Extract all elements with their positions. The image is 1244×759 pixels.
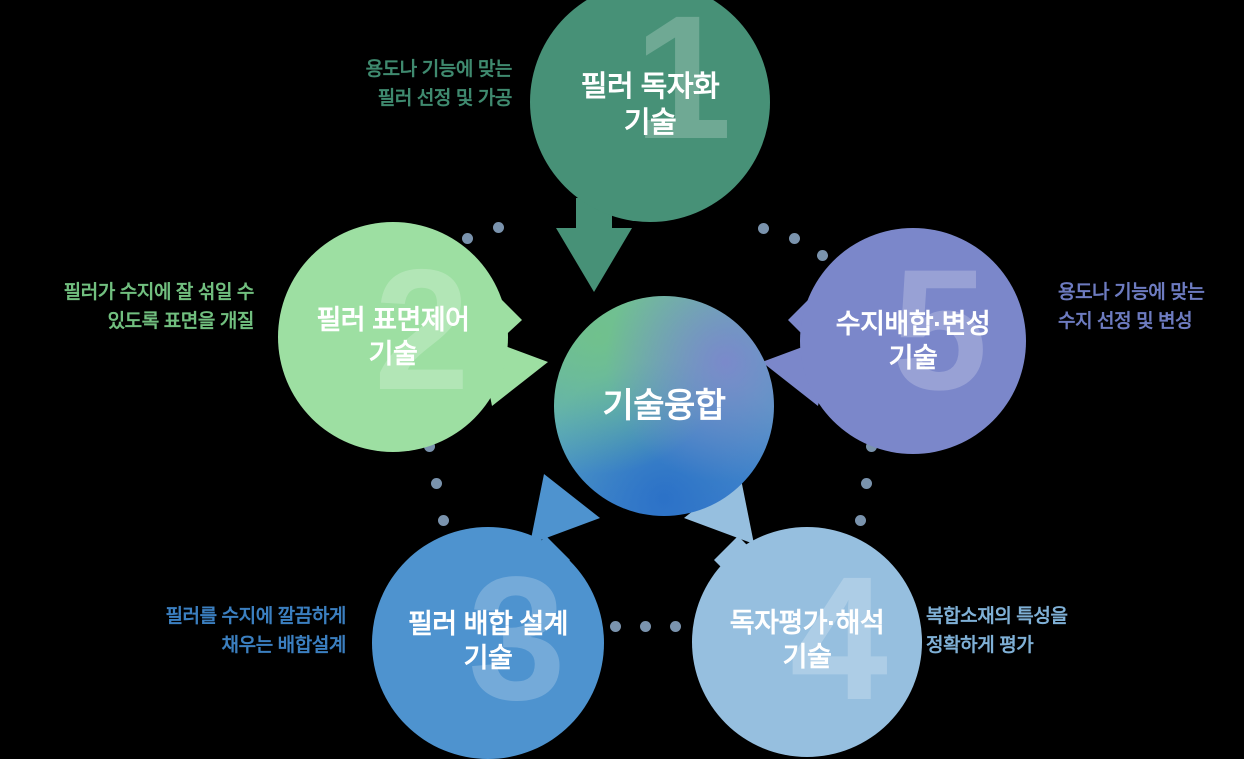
diagram-canvas: 1 필러 독자화 기술 용도나 기능에 맞는 필러 선정 및 가공 2 필러 표…	[0, 0, 1244, 742]
node-filler-surface-control[interactable]: 2 필러 표면제어 기술	[278, 222, 508, 452]
caption-filler-independence: 용도나 기능에 맞는 필러 선정 및 가공	[284, 55, 512, 114]
node-filler-compounding-design[interactable]: 3 필러 배합 설계 기술	[372, 527, 604, 759]
node-filler-independence[interactable]: 1 필러 독자화 기술	[530, 0, 770, 222]
node-title: 독자평가·해석 기술	[730, 607, 885, 675]
connector-dot	[855, 515, 866, 526]
connector-dot	[493, 222, 504, 233]
node-title: 수지배합·변성 기술	[836, 308, 991, 376]
connector-dot	[817, 250, 828, 261]
node-evaluation-analysis[interactable]: 4 독자평가·해석 기술	[692, 527, 922, 757]
hub-label: 기술융합	[602, 385, 725, 428]
connector-dot	[431, 478, 442, 489]
caption-filler-compounding-design: 필러를 수지에 깔끔하게 채우는 배합설계	[98, 602, 346, 661]
node-resin-compounding-modification[interactable]: 5 수지배합·변성 기술	[800, 228, 1026, 454]
node-title: 필러 배합 설계 기술	[408, 608, 568, 676]
connector-dot	[758, 223, 769, 234]
caption-evaluation-analysis: 복합소재의 특성을 정확하게 평가	[926, 602, 1156, 661]
node-title: 필러 독자화 기술	[581, 69, 719, 142]
caption-filler-surface-control: 필러가 수지에 잘 섞일 수 있도록 표면을 개질	[0, 278, 254, 337]
node-title: 필러 표면제어 기술	[316, 304, 469, 372]
connector-dot	[640, 621, 651, 632]
caption-resin-compounding-modification: 용도나 기능에 맞는 수지 선정 및 변성	[1058, 278, 1244, 337]
connector-dot	[861, 478, 872, 489]
connector-dot	[610, 621, 621, 632]
connector-dot	[789, 233, 800, 244]
connector-dot	[670, 621, 681, 632]
connector-dot	[438, 515, 449, 526]
hub-technology-convergence[interactable]: 기술융합	[554, 296, 774, 516]
